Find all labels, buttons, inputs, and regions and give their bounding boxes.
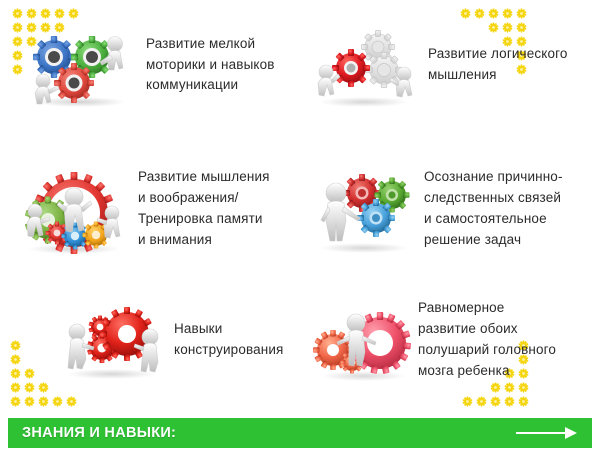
decor-dot bbox=[502, 8, 513, 19]
item-thinking-imagination-memory: Развитие мышления и воображения/ Трениро… bbox=[20, 163, 310, 255]
decor-dot bbox=[518, 382, 529, 393]
decor-dot bbox=[66, 396, 77, 407]
figure-pink-gears-clipart bbox=[312, 298, 412, 382]
decor-dot bbox=[38, 382, 49, 393]
item-label: Развитие мелкой моторики и навыков комму… bbox=[146, 34, 275, 97]
item-label: Навыки конструирования bbox=[174, 319, 283, 361]
arrow-right-icon[interactable] bbox=[516, 426, 578, 440]
decor-dot bbox=[24, 382, 35, 393]
red-gear-two-figures-clipart bbox=[312, 22, 416, 108]
decor-dot bbox=[26, 8, 37, 19]
decor-dot bbox=[504, 382, 515, 393]
item-logical-thinking: Развитие логического мышления bbox=[312, 22, 597, 108]
item-construction-skills: Навыки конструирования bbox=[58, 300, 308, 380]
item-fine-motor-communication: Развитие мелкой моторики и навыков комму… bbox=[22, 22, 302, 108]
decor-dot bbox=[68, 8, 79, 19]
decor-dot bbox=[516, 8, 527, 19]
decor-dot bbox=[460, 8, 471, 19]
footer-bar[interactable]: ЗНАНИЯ И НАВЫКИ: bbox=[8, 418, 592, 448]
three-gears-two-figures-clipart bbox=[22, 22, 134, 108]
decor-dot bbox=[24, 368, 35, 379]
item-brain-hemispheres: Равномерное развитие обоих полушарий гол… bbox=[312, 298, 597, 382]
decor-dot bbox=[10, 354, 21, 365]
arch-gears-three-figures-clipart bbox=[20, 163, 128, 255]
decor-dot bbox=[52, 396, 63, 407]
decor-dot bbox=[10, 340, 21, 351]
decor-dot bbox=[10, 396, 21, 407]
item-label: Осознание причинно- следственных связей … bbox=[424, 167, 563, 251]
slide-canvas: Развитие мелкой моторики и навыков комму… bbox=[0, 0, 600, 450]
decor-dot bbox=[462, 396, 473, 407]
decor-dot bbox=[476, 396, 487, 407]
decor-dot bbox=[12, 8, 23, 19]
decor-dot bbox=[518, 396, 529, 407]
item-cause-effect-problem-solving: Осознание причинно- следственных связей … bbox=[312, 163, 600, 255]
decor-dot bbox=[38, 396, 49, 407]
decor-dot bbox=[40, 8, 51, 19]
item-label: Равномерное развитие обоих полушарий гол… bbox=[418, 298, 556, 382]
decor-dot bbox=[10, 368, 21, 379]
decor-dot bbox=[488, 8, 499, 19]
figure-three-gears-clipart bbox=[312, 163, 416, 255]
item-label: Развитие мышления и воображения/ Трениро… bbox=[138, 167, 270, 251]
two-figures-red-gears-clipart bbox=[58, 300, 162, 380]
decor-dot bbox=[490, 396, 501, 407]
item-label: Развитие логического мышления bbox=[428, 44, 568, 86]
decor-dot bbox=[490, 382, 501, 393]
decor-dot bbox=[474, 8, 485, 19]
decor-dot bbox=[24, 396, 35, 407]
decor-dot bbox=[10, 382, 21, 393]
decor-dot bbox=[504, 396, 515, 407]
decor-dot bbox=[54, 8, 65, 19]
footer-title: ЗНАНИЯ И НАВЫКИ: bbox=[22, 425, 176, 441]
